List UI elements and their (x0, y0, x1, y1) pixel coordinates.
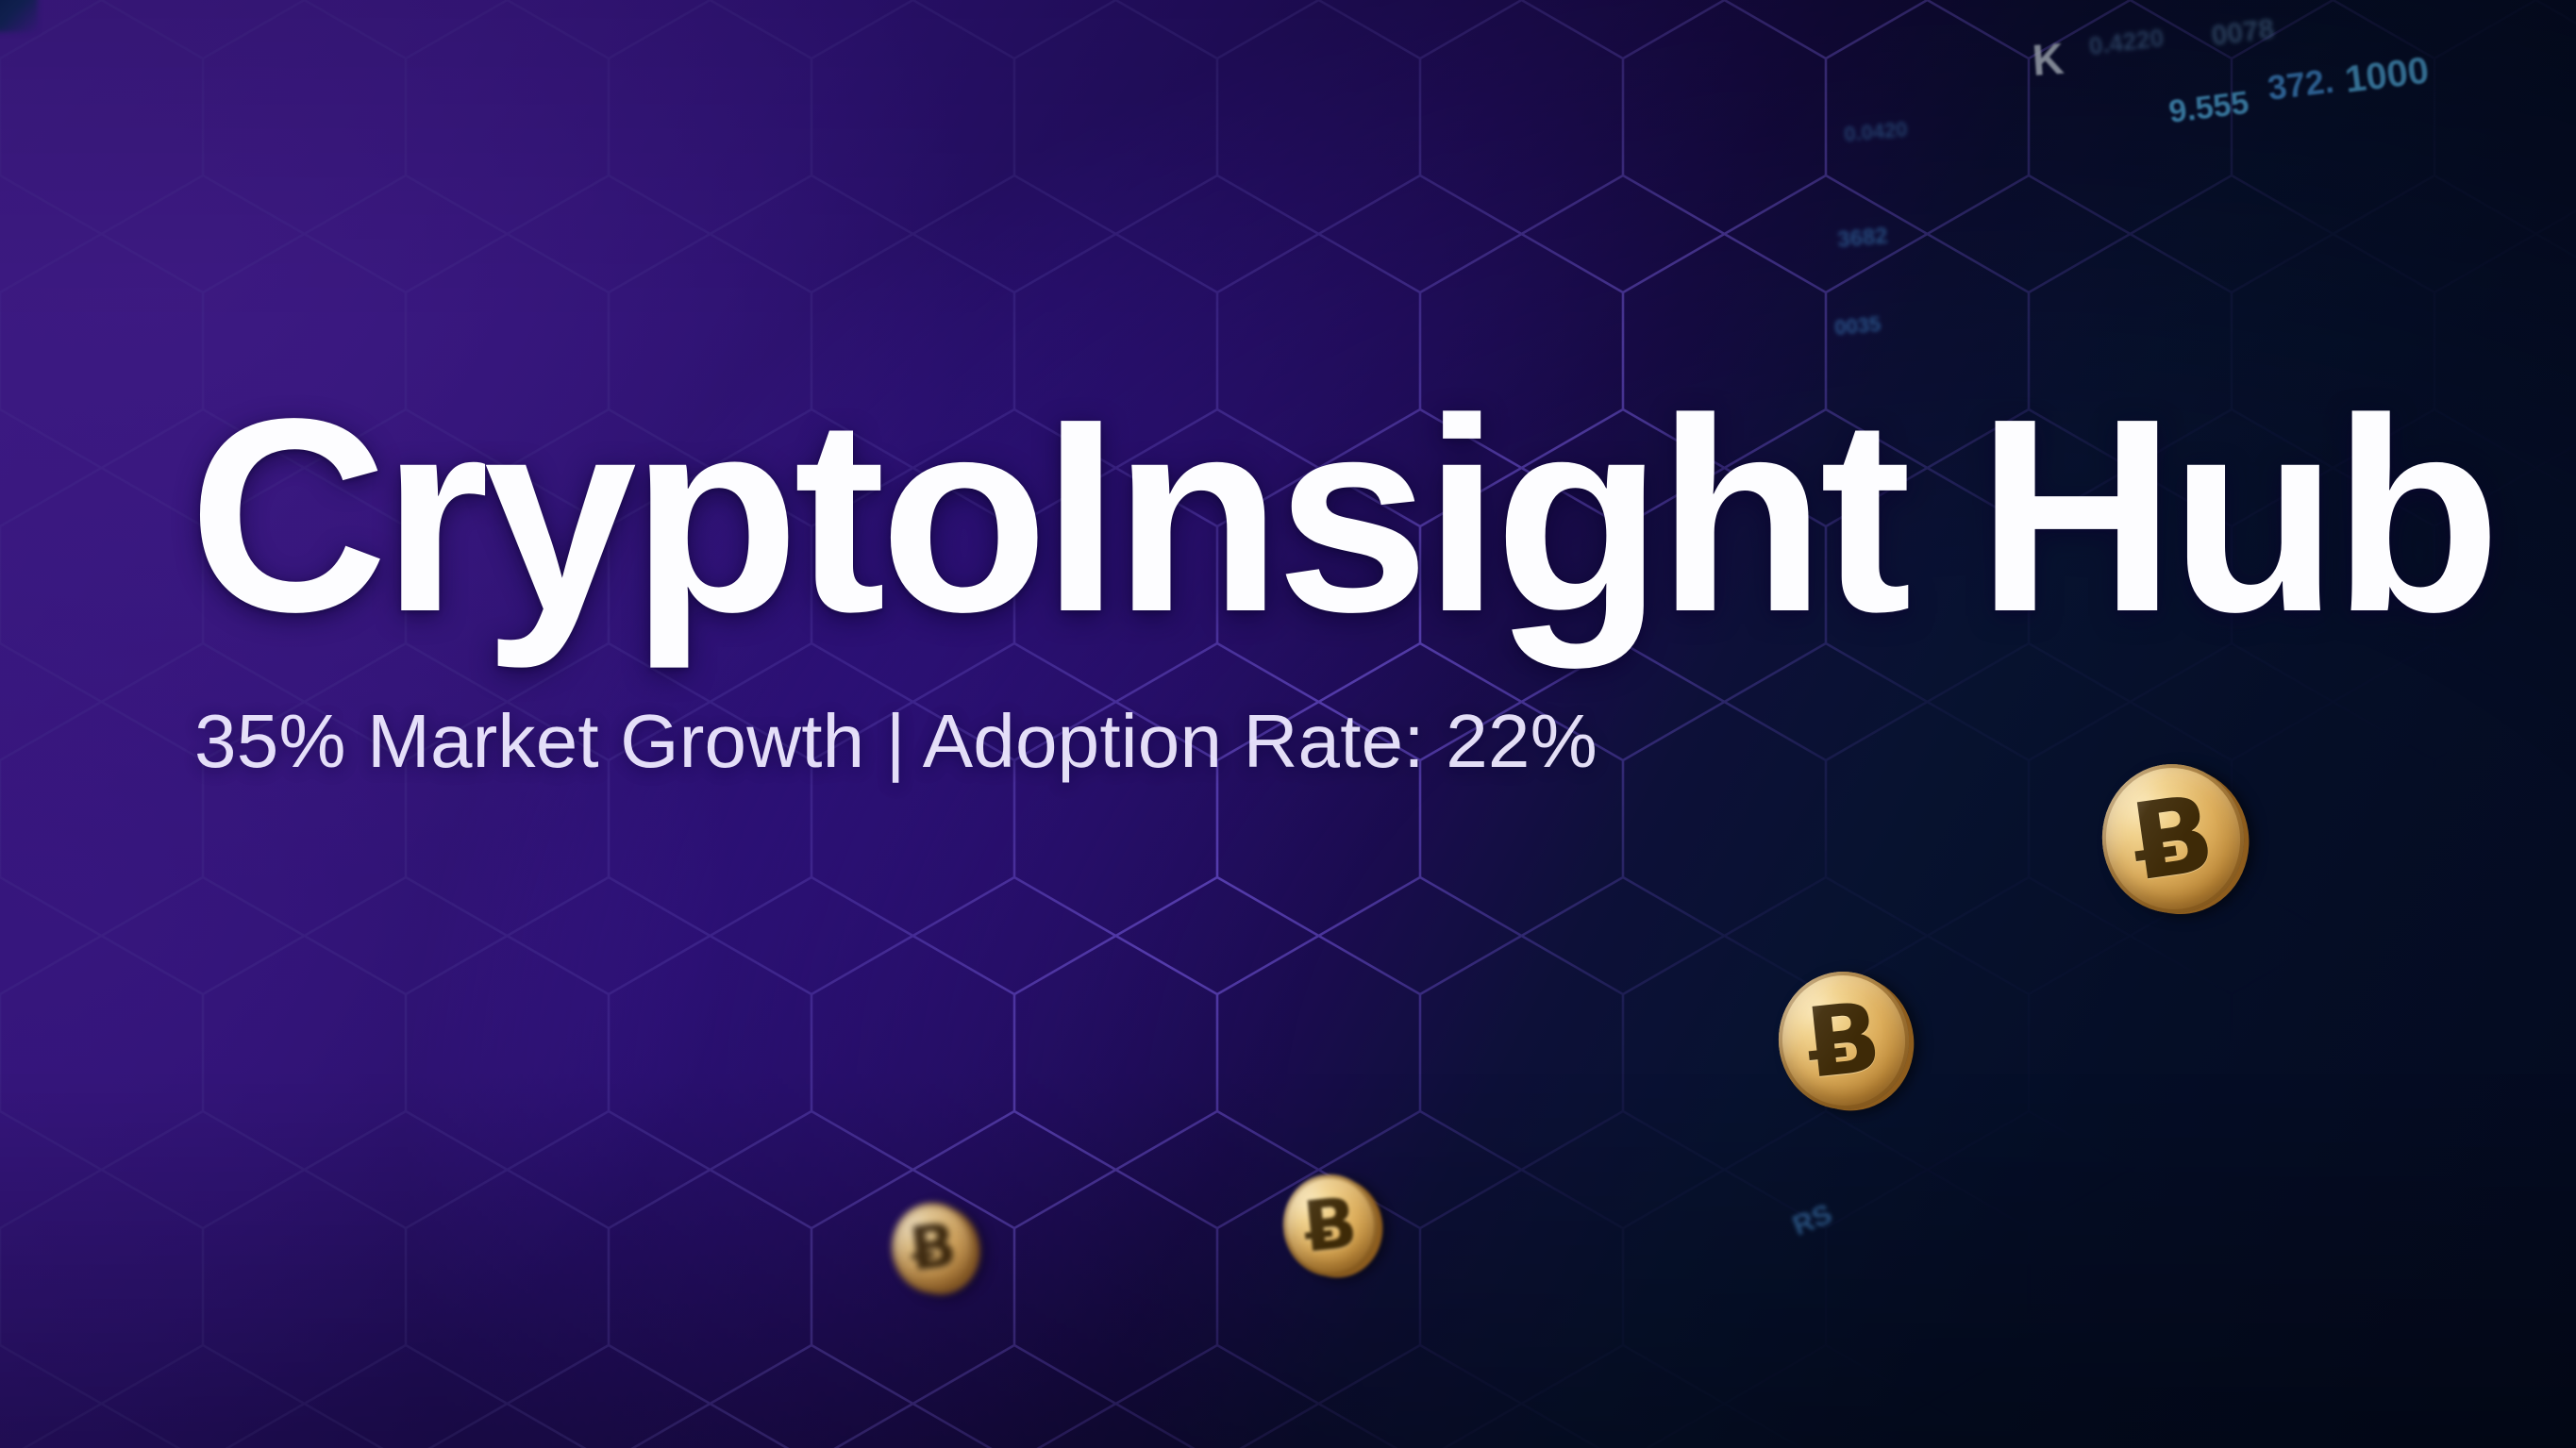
bitcoin-coin-quaternary: Ƀ (886, 1198, 979, 1298)
bitcoin-coin-tertiary: Ƀ (1279, 1170, 1383, 1281)
headline-block: CryptoInsight Hub 35% Market Growth | Ad… (189, 377, 2359, 785)
crypto-banner: K1000372.9.55500780.42200.042036820035RS… (0, 0, 2576, 1448)
metrics-subtitle: 35% Market Growth | Adoption Rate: 22% (194, 698, 2359, 785)
bitcoin-coin-secondary: Ƀ (1772, 965, 1916, 1116)
page-title: CryptoInsight Hub (189, 377, 2359, 653)
corner-accent (0, 0, 38, 32)
